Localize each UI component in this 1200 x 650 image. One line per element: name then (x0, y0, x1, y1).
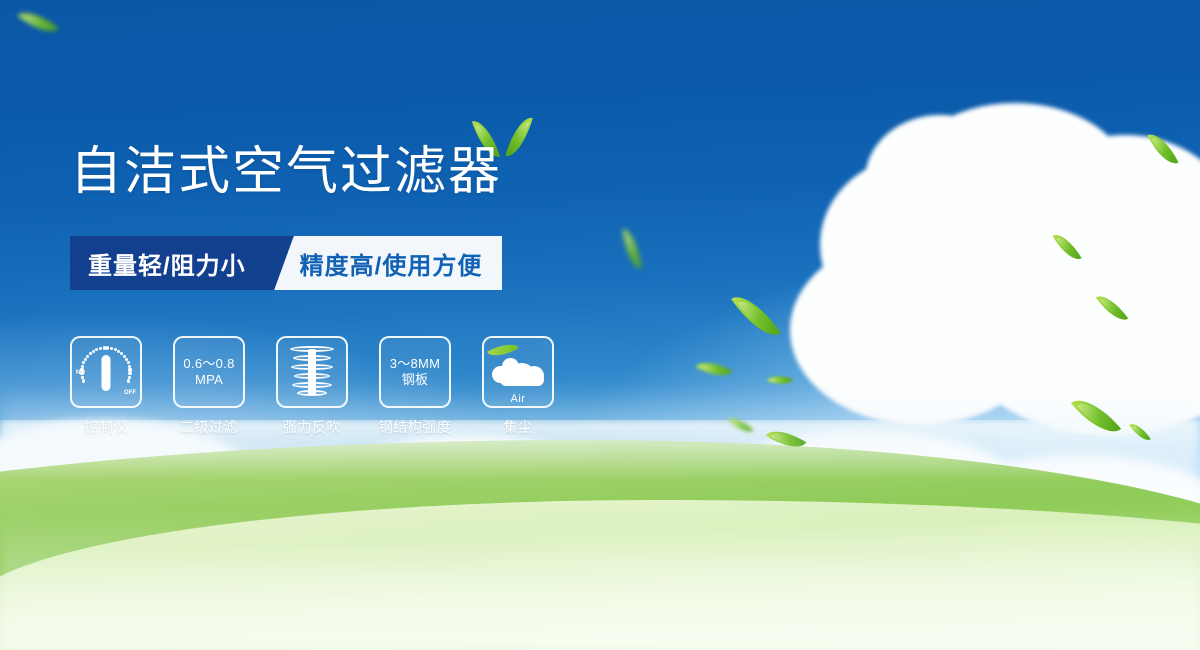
gauge-tick (80, 372, 83, 375)
gauge-tick (127, 361, 130, 364)
gauge-tick (110, 347, 113, 350)
page-title: 自洁式空气过滤器 (70, 146, 502, 198)
gauge-tick (128, 368, 131, 371)
hero-banner: 自洁式空气过滤器 重量轻/阻力小 精度高/使用方便 NO OFF 控制仪 0.6… (0, 0, 1200, 650)
pressure-line-1: 0.6～0.8 (183, 356, 234, 372)
feature-icon-box: 3～8MM 钢板 (379, 336, 451, 408)
air-cloud-icon: Air (490, 352, 546, 392)
gauge-icon: NO OFF (77, 343, 135, 401)
gauge-tick (80, 368, 83, 371)
grass-field (0, 420, 1200, 650)
feature-label: 控制仪 (84, 417, 128, 437)
feature-icon-box (276, 336, 348, 408)
steel-line-1: 3～8MM (390, 356, 441, 372)
feature-icon-box: 0.6～0.8 MPA (173, 336, 245, 408)
gauge-tick (95, 348, 98, 351)
gauge-tick (127, 379, 130, 382)
feature-label: 强力反吹 (283, 417, 341, 437)
gauge-tick (103, 346, 106, 349)
feature-item-steel-strength[interactable]: 3～8MM 钢板 钢结构强度 (379, 336, 451, 437)
feature-label: 二级过滤 (180, 417, 238, 437)
coil-filter-icon (288, 346, 336, 398)
pressure-value-icon: 0.6～0.8 MPA (183, 356, 234, 388)
feature-item-dust-collection[interactable]: Air 集尘 (482, 336, 554, 437)
cumulus-cloud (780, 95, 1200, 425)
feature-list: NO OFF 控制仪 0.6～0.8 MPA 二级过滤 (70, 336, 554, 437)
gauge-tick (128, 372, 131, 375)
gauge-tick (84, 358, 87, 361)
pressure-line-2: MPA (183, 372, 234, 388)
gauge-tick (82, 361, 85, 364)
feature-item-controller[interactable]: NO OFF 控制仪 (70, 336, 142, 437)
feature-item-secondary-filter[interactable]: 0.6～0.8 MPA 二级过滤 (173, 336, 245, 437)
feature-label: 钢结构强度 (379, 417, 452, 437)
gauge-tick (81, 365, 84, 368)
gauge-tick (82, 379, 85, 382)
feature-item-backblow[interactable]: 强力反吹 (276, 336, 348, 437)
steel-line-2: 钢板 (390, 372, 441, 388)
steel-plate-icon: 3～8MM 钢板 (390, 356, 441, 388)
feature-icon-box: Air (482, 336, 554, 408)
gauge-off-label: OFF (124, 390, 136, 396)
subtitle-banner: 重量轻/阻力小 精度高/使用方便 (70, 236, 502, 290)
gauge-tick (106, 346, 109, 349)
subtitle-primary: 重量轻/阻力小 (70, 236, 268, 290)
gauge-tick (99, 347, 102, 350)
gauge-tick (86, 355, 89, 358)
feature-icon-box: NO OFF (70, 336, 142, 408)
subtitle-secondary: 精度高/使用方便 (270, 236, 503, 290)
air-label: Air (490, 393, 546, 405)
feature-label: 集尘 (504, 417, 533, 437)
